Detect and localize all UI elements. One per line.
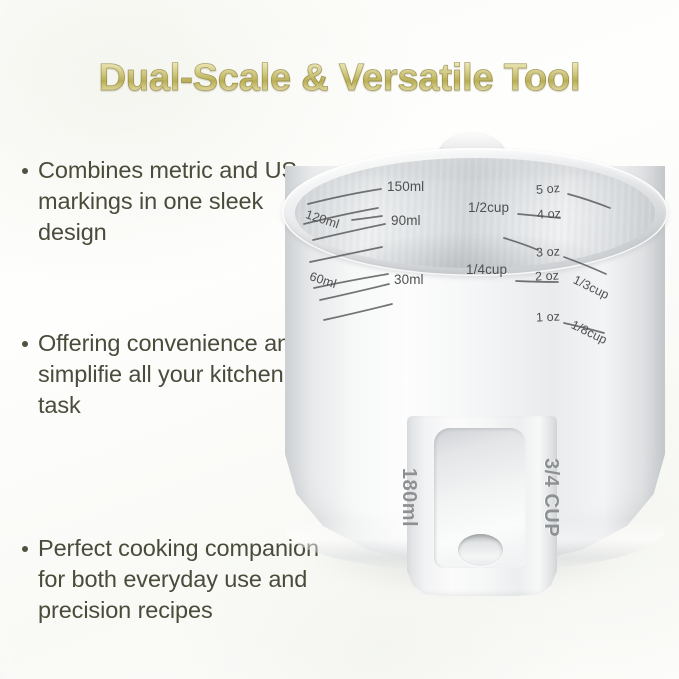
handle-metric-label: 180ml (397, 468, 420, 527)
cup-handle: 180ml 3/4 CUP (407, 416, 557, 596)
page-title: Dual-Scale & Versatile Tool (0, 58, 679, 100)
bullet-dot-icon (22, 168, 28, 174)
mark-label-90ml: 90ml (391, 213, 421, 228)
mark-label-30ml: 30ml (394, 272, 424, 287)
infographic-canvas: Dual-Scale & Versatile Tool Combines met… (0, 0, 679, 679)
mark-label-2oz: 2 oz (535, 268, 560, 283)
mark-label-half-cup: 1/2cup (468, 200, 509, 215)
mark-label-quarter-cup: 1/4cup (466, 262, 507, 277)
mark-label-150ml: 150ml (387, 179, 424, 194)
mark-label-3oz: 3 oz (536, 244, 561, 259)
mark-label-5oz: 5 oz (535, 181, 560, 197)
mark-label-1oz: 1 oz (536, 309, 561, 324)
bullet-dot-icon (22, 341, 28, 347)
handle-hanging-hole (458, 534, 503, 566)
bullet-dot-icon (22, 546, 28, 552)
measuring-cup-image: 150ml 120ml 90ml 60ml 30ml 5 oz 1/2cup 4… (268, 128, 678, 608)
handle-us-label: 3/4 CUP (539, 458, 562, 537)
mark-label-4oz: 4 oz (537, 206, 562, 221)
